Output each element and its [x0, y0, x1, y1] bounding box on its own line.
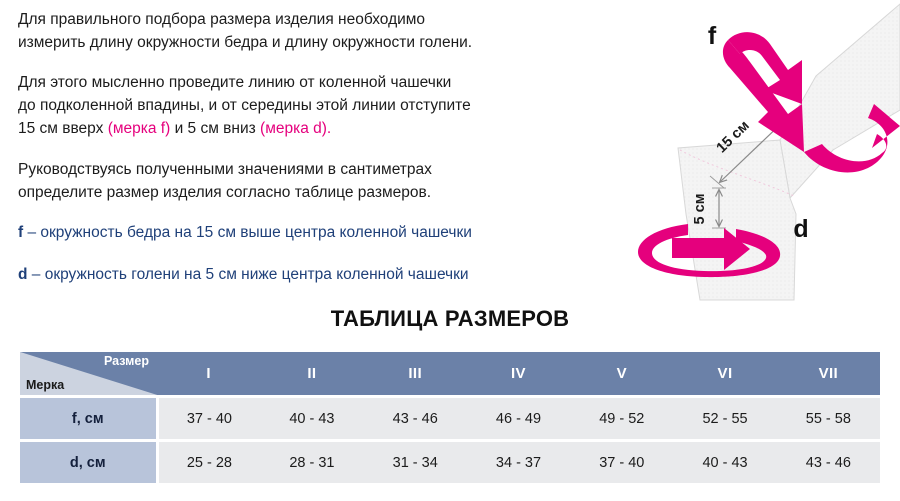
definition-d-text: окружность голени на 5 см ниже центра ко…: [45, 266, 469, 283]
cell-f-5: 49 - 52: [570, 397, 673, 441]
definition-f: f – окружность бедра на 15 см выше центр…: [18, 222, 618, 244]
cell-d-4: 34 - 37: [467, 441, 570, 484]
intro-paragraph-3: Руководствуясь полученными значениями в …: [18, 158, 618, 204]
intro-paragraph-1: Для правильного подбора размера изделия …: [18, 8, 618, 54]
size-chart-table: Размер Мерка I II III IV V VI VII f, см …: [20, 352, 880, 483]
table-row: d, см 25 - 28 28 - 31 31 - 34 34 - 37 37…: [20, 441, 880, 484]
table-header-row: Размер Мерка I II III IV V VI VII: [20, 352, 880, 397]
corner-size-label: Размер: [104, 354, 149, 368]
row-label-f: f, см: [20, 397, 157, 441]
illustration-label-f: f: [708, 22, 717, 50]
cell-d-3: 31 - 34: [364, 441, 467, 484]
column-header-3: III: [364, 352, 467, 397]
column-header-4: IV: [467, 352, 570, 397]
definition-d: d – окружность голени на 5 см ниже центр…: [18, 264, 618, 286]
intro-paragraph-2-text-b: и 5 см вниз: [170, 120, 260, 137]
cell-f-7: 55 - 58: [777, 397, 880, 441]
cell-d-1: 25 - 28: [157, 441, 260, 484]
cell-f-3: 43 - 46: [364, 397, 467, 441]
illustration-label-d: d: [793, 215, 808, 243]
measure-f-note: (мерка f): [108, 120, 171, 137]
cell-d-2: 28 - 31: [260, 441, 363, 484]
dimension-5cm-label: 5 см: [692, 194, 708, 225]
cell-d-7: 43 - 46: [777, 441, 880, 484]
cell-f-4: 46 - 49: [467, 397, 570, 441]
column-header-5: V: [570, 352, 673, 397]
table-row: f, см 37 - 40 40 - 43 43 - 46 46 - 49 49…: [20, 397, 880, 441]
cell-f-6: 52 - 55: [673, 397, 776, 441]
cell-d-5: 37 - 40: [570, 441, 673, 484]
measure-d-note: (мерка d).: [260, 120, 331, 137]
cell-d-6: 40 - 43: [673, 441, 776, 484]
corner-measure-label: Мерка: [26, 378, 64, 392]
definition-f-text: окружность бедра на 15 см выше центра ко…: [40, 224, 472, 241]
column-header-6: VI: [673, 352, 776, 397]
table-corner-header: Размер Мерка: [20, 352, 157, 397]
definition-f-dash: –: [23, 224, 40, 241]
cell-f-1: 37 - 40: [157, 397, 260, 441]
definition-d-dash: –: [27, 266, 44, 283]
row-label-d: d, см: [20, 441, 157, 484]
page-title: ТАБЛИЦА РАЗМЕРОВ: [0, 306, 900, 332]
cell-f-2: 40 - 43: [260, 397, 363, 441]
column-header-7: VII: [777, 352, 880, 397]
intro-paragraph-2: Для этого мысленно проведите линию от ко…: [18, 71, 618, 140]
instructions-column: Для правильного подбора размера изделия …: [18, 8, 618, 306]
leg-measurement-diagram: 15 см 5 см f d: [628, 0, 900, 308]
column-header-2: II: [260, 352, 363, 397]
column-header-1: I: [157, 352, 260, 397]
